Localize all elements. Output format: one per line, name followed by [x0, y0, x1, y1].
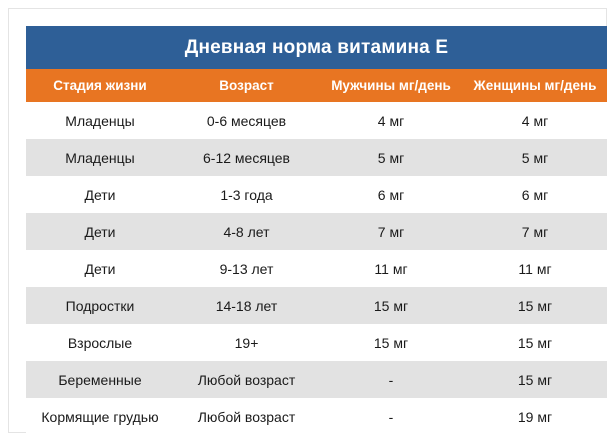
- cell-women: 7 мг: [463, 213, 607, 250]
- cell-life-stage: Дети: [26, 213, 174, 250]
- cell-age: Любой возраст: [174, 361, 319, 398]
- cell-life-stage: Кормящие грудью: [26, 398, 174, 435]
- cell-age: 1-3 года: [174, 176, 319, 213]
- cell-men: -: [319, 398, 463, 435]
- column-header-women: Женщины мг/день: [463, 69, 607, 102]
- table-row: Подростки 14-18 лет 15 мг 15 мг: [26, 287, 607, 324]
- cell-age: 9-13 лет: [174, 250, 319, 287]
- cell-age: 4-8 лет: [174, 213, 319, 250]
- cell-men: 4 мг: [319, 102, 463, 139]
- table-body: Младенцы 0-6 месяцев 4 мг 4 мг Младенцы …: [26, 102, 607, 435]
- cell-women: 4 мг: [463, 102, 607, 139]
- table-header: Стадия жизни Возраст Мужчины мг/день Жен…: [26, 69, 607, 102]
- table-row: Младенцы 6-12 месяцев 5 мг 5 мг: [26, 139, 607, 176]
- cell-women: 6 мг: [463, 176, 607, 213]
- cell-life-stage: Младенцы: [26, 102, 174, 139]
- cell-life-stage: Беременные: [26, 361, 174, 398]
- cell-men: 5 мг: [319, 139, 463, 176]
- cell-life-stage: Младенцы: [26, 139, 174, 176]
- column-header-age: Возраст: [174, 69, 319, 102]
- cell-men: 7 мг: [319, 213, 463, 250]
- cell-age: 14-18 лет: [174, 287, 319, 324]
- cell-women: 15 мг: [463, 324, 607, 361]
- table-title: Дневная норма витамина Е: [26, 26, 607, 69]
- cell-men: 6 мг: [319, 176, 463, 213]
- cell-women: 19 мг: [463, 398, 607, 435]
- cell-men: 15 мг: [319, 287, 463, 324]
- cell-life-stage: Взрослые: [26, 324, 174, 361]
- vitamin-e-table: Дневная норма витамина Е Стадия жизни Во…: [26, 26, 607, 435]
- cell-women: 15 мг: [463, 361, 607, 398]
- cell-men: -: [319, 361, 463, 398]
- cell-men: 15 мг: [319, 324, 463, 361]
- table-row: Кормящие грудью Любой возраст - 19 мг: [26, 398, 607, 435]
- document-page: Дневная норма витамина Е Стадия жизни Во…: [0, 0, 615, 441]
- cell-age: 6-12 месяцев: [174, 139, 319, 176]
- table-row: Беременные Любой возраст - 15 мг: [26, 361, 607, 398]
- cell-age: 19+: [174, 324, 319, 361]
- table-row: Дети 4-8 лет 7 мг 7 мг: [26, 213, 607, 250]
- cell-age: Любой возраст: [174, 398, 319, 435]
- cell-women: 15 мг: [463, 287, 607, 324]
- document-frame: Дневная норма витамина Е Стадия жизни Во…: [8, 8, 607, 433]
- header-row: Стадия жизни Возраст Мужчины мг/день Жен…: [26, 69, 607, 102]
- cell-women: 11 мг: [463, 250, 607, 287]
- cell-life-stage: Дети: [26, 250, 174, 287]
- table-row: Дети 9-13 лет 11 мг 11 мг: [26, 250, 607, 287]
- cell-life-stage: Подростки: [26, 287, 174, 324]
- column-header-men: Мужчины мг/день: [319, 69, 463, 102]
- cell-men: 11 мг: [319, 250, 463, 287]
- table-row: Дети 1-3 года 6 мг 6 мг: [26, 176, 607, 213]
- cell-women: 5 мг: [463, 139, 607, 176]
- table-row: Взрослые 19+ 15 мг 15 мг: [26, 324, 607, 361]
- vitamin-e-table-container: Дневная норма витамина Е Стадия жизни Во…: [26, 26, 607, 435]
- column-header-life-stage: Стадия жизни: [26, 69, 174, 102]
- cell-age: 0-6 месяцев: [174, 102, 319, 139]
- cell-life-stage: Дети: [26, 176, 174, 213]
- table-row: Младенцы 0-6 месяцев 4 мг 4 мг: [26, 102, 607, 139]
